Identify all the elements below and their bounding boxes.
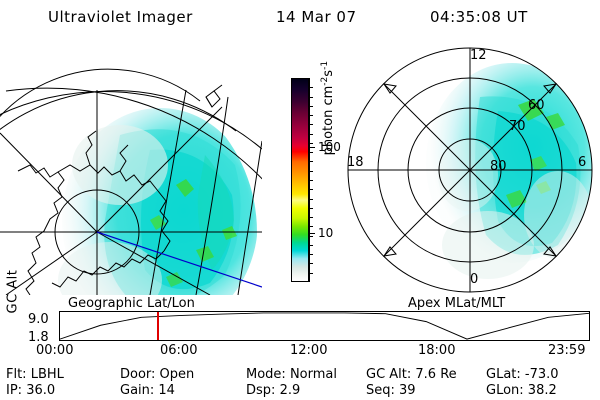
status-field-value: 14 [158,383,175,398]
status-field-value: 39 [399,383,416,398]
orbit-y-axis-label: GC Alt [4,297,22,312]
geo-panel-caption: Geographic Lat/Lon [68,296,195,311]
aurora-emission-layer [426,63,598,279]
colorbar-minor-tick [309,208,313,209]
mag-panel-caption: Apex MLat/MLT [408,296,505,311]
mlat-label: 60 [528,99,545,112]
status-field-label: Dsp: [246,383,280,398]
orbit-x-tick-label: 06:00 [160,344,197,357]
magnetic-plot-svg [340,45,600,295]
colorbar-minor-tick [309,273,313,274]
colorbar-tick-label: 10 [318,227,333,239]
status-field-value: Open [160,367,195,382]
colorbar-title-exp1: -2 [320,77,330,86]
mlat-label: 70 [509,120,526,133]
status-field-value: Normal [290,367,337,382]
status-field-label: Door: [120,367,160,382]
orbit-x-tick-label: 18:00 [418,344,455,357]
status-field: Mode: Normal [246,368,337,382]
mlt-label: 12 [470,49,487,62]
status-field-value: 36.0 [26,383,55,398]
status-field: Door: Open [120,368,194,382]
status-field-value: 7.6 Re [415,367,456,382]
status-field-label: Mode: [246,367,290,382]
status-field-label: IP: [6,383,26,398]
status-field-value: LBHL [31,367,64,382]
observation-date: 14 Mar 07 [276,8,357,30]
colorbar-title: photon cm-2s-1 [320,28,336,188]
colorbar-major-tick [309,147,315,148]
mlat-label: 80 [490,160,507,173]
status-field: GLat: -73.0 [486,368,559,382]
colorbar-minor-tick [309,87,313,88]
status-field: GC Alt: 7.6 Re [366,368,457,382]
current-time-marker [157,312,159,340]
status-field-value: -73.0 [525,367,559,382]
colorbar-tick-label: 100 [318,141,341,153]
status-field: Flt: LBHL [6,368,64,382]
mlt-label: 0 [470,273,478,286]
mlt-label: 6 [578,156,586,169]
status-field-label: Gain: [120,383,158,398]
orbit-plot-svg [60,312,589,340]
magnetic-polar-image[interactable] [340,45,600,295]
mlt-label: 18 [347,156,364,169]
colorbar-minor-tick [309,152,313,153]
orbit-altitude-curve [60,313,589,339]
aurora-emission-layer [58,108,258,295]
colorbar-minor-tick [309,161,313,162]
orbit-x-tick-label: 23:59 [548,344,585,357]
colorbar-minor-tick [309,97,313,98]
colorbar-minor-tick [309,189,313,190]
status-field: IP: 36.0 [6,384,55,398]
colorbar-minor-tick [309,134,313,135]
spacecraft-arrow-icon [206,85,222,107]
orbit-x-tick-label: 12:00 [290,344,327,357]
orbit-y-axis-label-text: GC Alt [6,296,21,314]
status-field: Dsp: 2.9 [246,384,300,398]
colorbar-gradient [291,78,309,282]
colorbar-minor-tick [309,143,313,144]
colorbar-minor-tick [309,263,313,264]
status-field-label: GC Alt: [366,367,415,382]
colorbar-minor-tick [309,254,313,255]
colorbar-minor-tick [309,236,313,237]
colorbar[interactable] [291,78,309,282]
status-field: GLon: 38.2 [486,384,557,398]
colorbar-minor-tick [309,199,313,200]
uvi-display: Ultraviolet Imager 14 Mar 07 04:35:08 UT [0,0,600,400]
colorbar-minor-tick [309,124,313,125]
colorbar-title-exp2: -1 [320,61,330,70]
status-field-value: 2.9 [280,383,301,398]
observation-time: 04:35:08 UT [430,8,528,30]
status-field: Seq: 39 [366,384,416,398]
geographic-polar-image[interactable] [0,45,262,295]
colorbar-minor-tick [309,115,313,116]
orbit-y-tick-label: 9.0 [28,313,49,326]
colorbar-major-tick [309,233,315,234]
orbit-altitude-plot[interactable] [59,311,590,341]
colorbar-minor-tick [309,180,313,181]
status-field-label: Flt: [6,367,31,382]
colorbar-minor-tick [309,245,313,246]
status-field-label: GLat: [486,367,525,382]
colorbar-minor-tick [309,226,313,227]
colorbar-title-mid: s [321,70,336,77]
orbit-x-tick-label: 00:00 [36,344,73,357]
colorbar-minor-tick [309,106,313,107]
colorbar-minor-tick [309,217,313,218]
status-field: Gain: 14 [120,384,175,398]
page-title: Ultraviolet Imager [48,8,193,30]
geographic-plot-svg [0,45,262,295]
colorbar-minor-tick [309,171,313,172]
status-field-label: Seq: [366,383,399,398]
status-field-value: 38.2 [528,383,557,398]
status-field-label: GLon: [486,383,528,398]
